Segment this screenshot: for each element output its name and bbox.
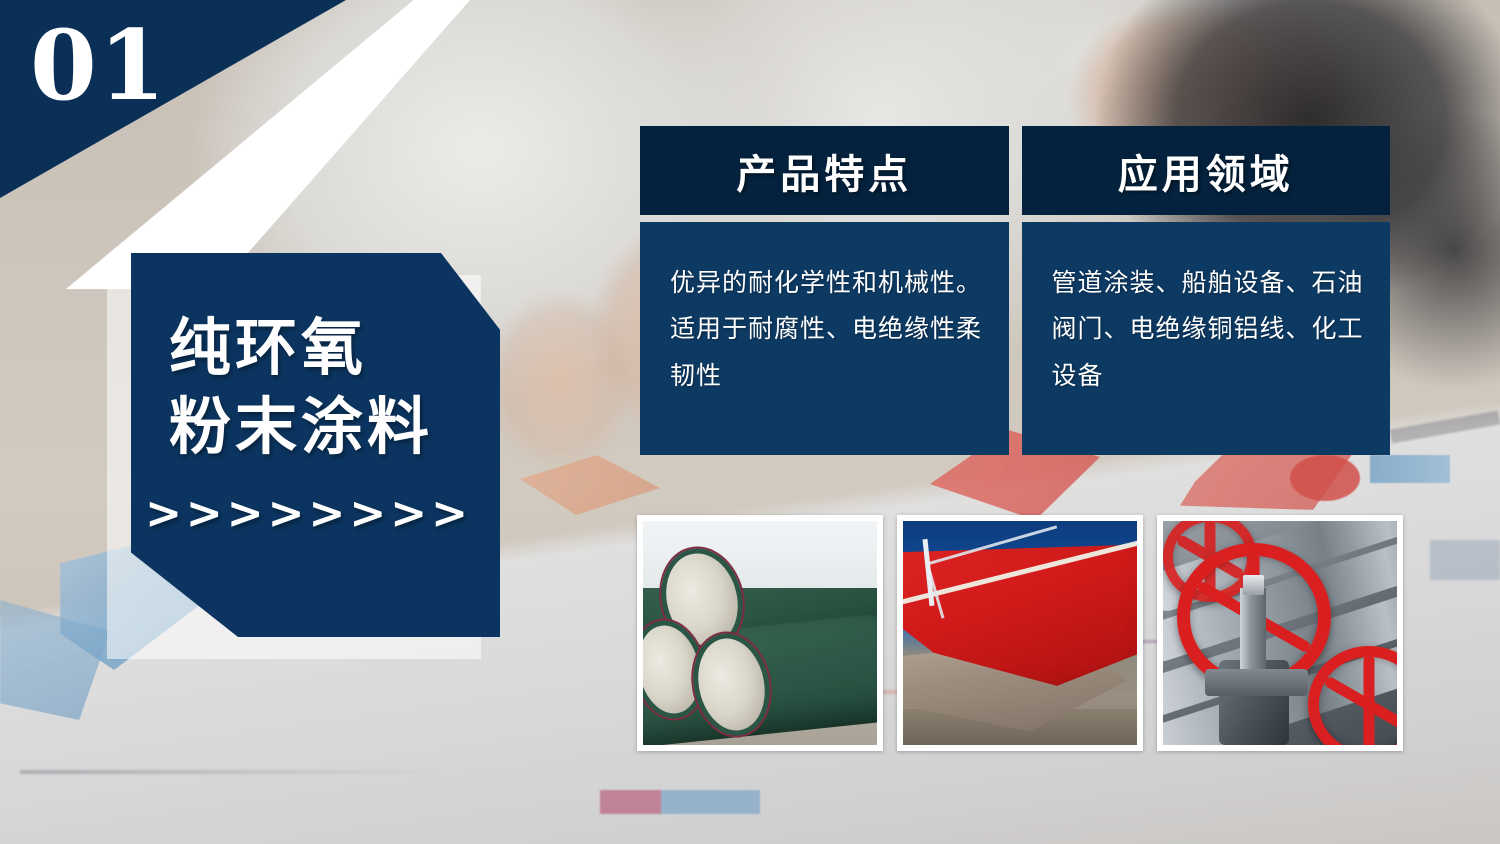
valve-stem-nut [1243, 575, 1264, 595]
chevron-arrows-icon: >>>>>>>> [131, 492, 500, 536]
panel-body-application-fields: 管道涂装、船舶设备、石油阀门、电绝缘铜铝线、化工设备 [1022, 222, 1391, 455]
panel-body-product-features: 优异的耐化学性和机械性。适用于耐腐性、电绝缘性柔韧性 [640, 222, 1009, 455]
title-line-1: 纯环氧 [131, 309, 500, 388]
panel-heading-product-features: 产品特点 [640, 126, 1009, 215]
photo-frame-ship [897, 515, 1143, 751]
photo-green-coated-steel-pipes [643, 521, 877, 745]
valve-flange [1205, 669, 1308, 696]
panel-product-features: 产品特点 优异的耐化学性和机械性。适用于耐腐性、电绝缘性柔韧性 [640, 126, 1009, 455]
photo-strip [637, 515, 1403, 751]
title-line-2: 粉末涂料 [131, 388, 500, 467]
panel-application-fields: 应用领域 管道涂装、船舶设备、石油阀门、电绝缘铜铝线、化工设备 [1022, 126, 1391, 455]
photo-red-valve-handwheels [1163, 521, 1397, 745]
photo-red-ship-hull [903, 521, 1137, 745]
info-panels: 产品特点 优异的耐化学性和机械性。适用于耐腐性、电绝缘性柔韧性 应用领域 管道涂… [640, 126, 1390, 455]
panel-heading-application-fields: 应用领域 [1022, 126, 1391, 215]
slide-canvas: 01 纯环氧 粉末涂料 >>>>>>>> 产品特点 优异的耐化学性和机械性。适用… [0, 0, 1500, 844]
section-index-number: 01 [30, 18, 168, 114]
photo-frame-valves [1157, 515, 1403, 751]
photo-frame-pipes [637, 515, 883, 751]
title-card: 纯环氧 粉末涂料 >>>>>>>> [131, 253, 500, 637]
